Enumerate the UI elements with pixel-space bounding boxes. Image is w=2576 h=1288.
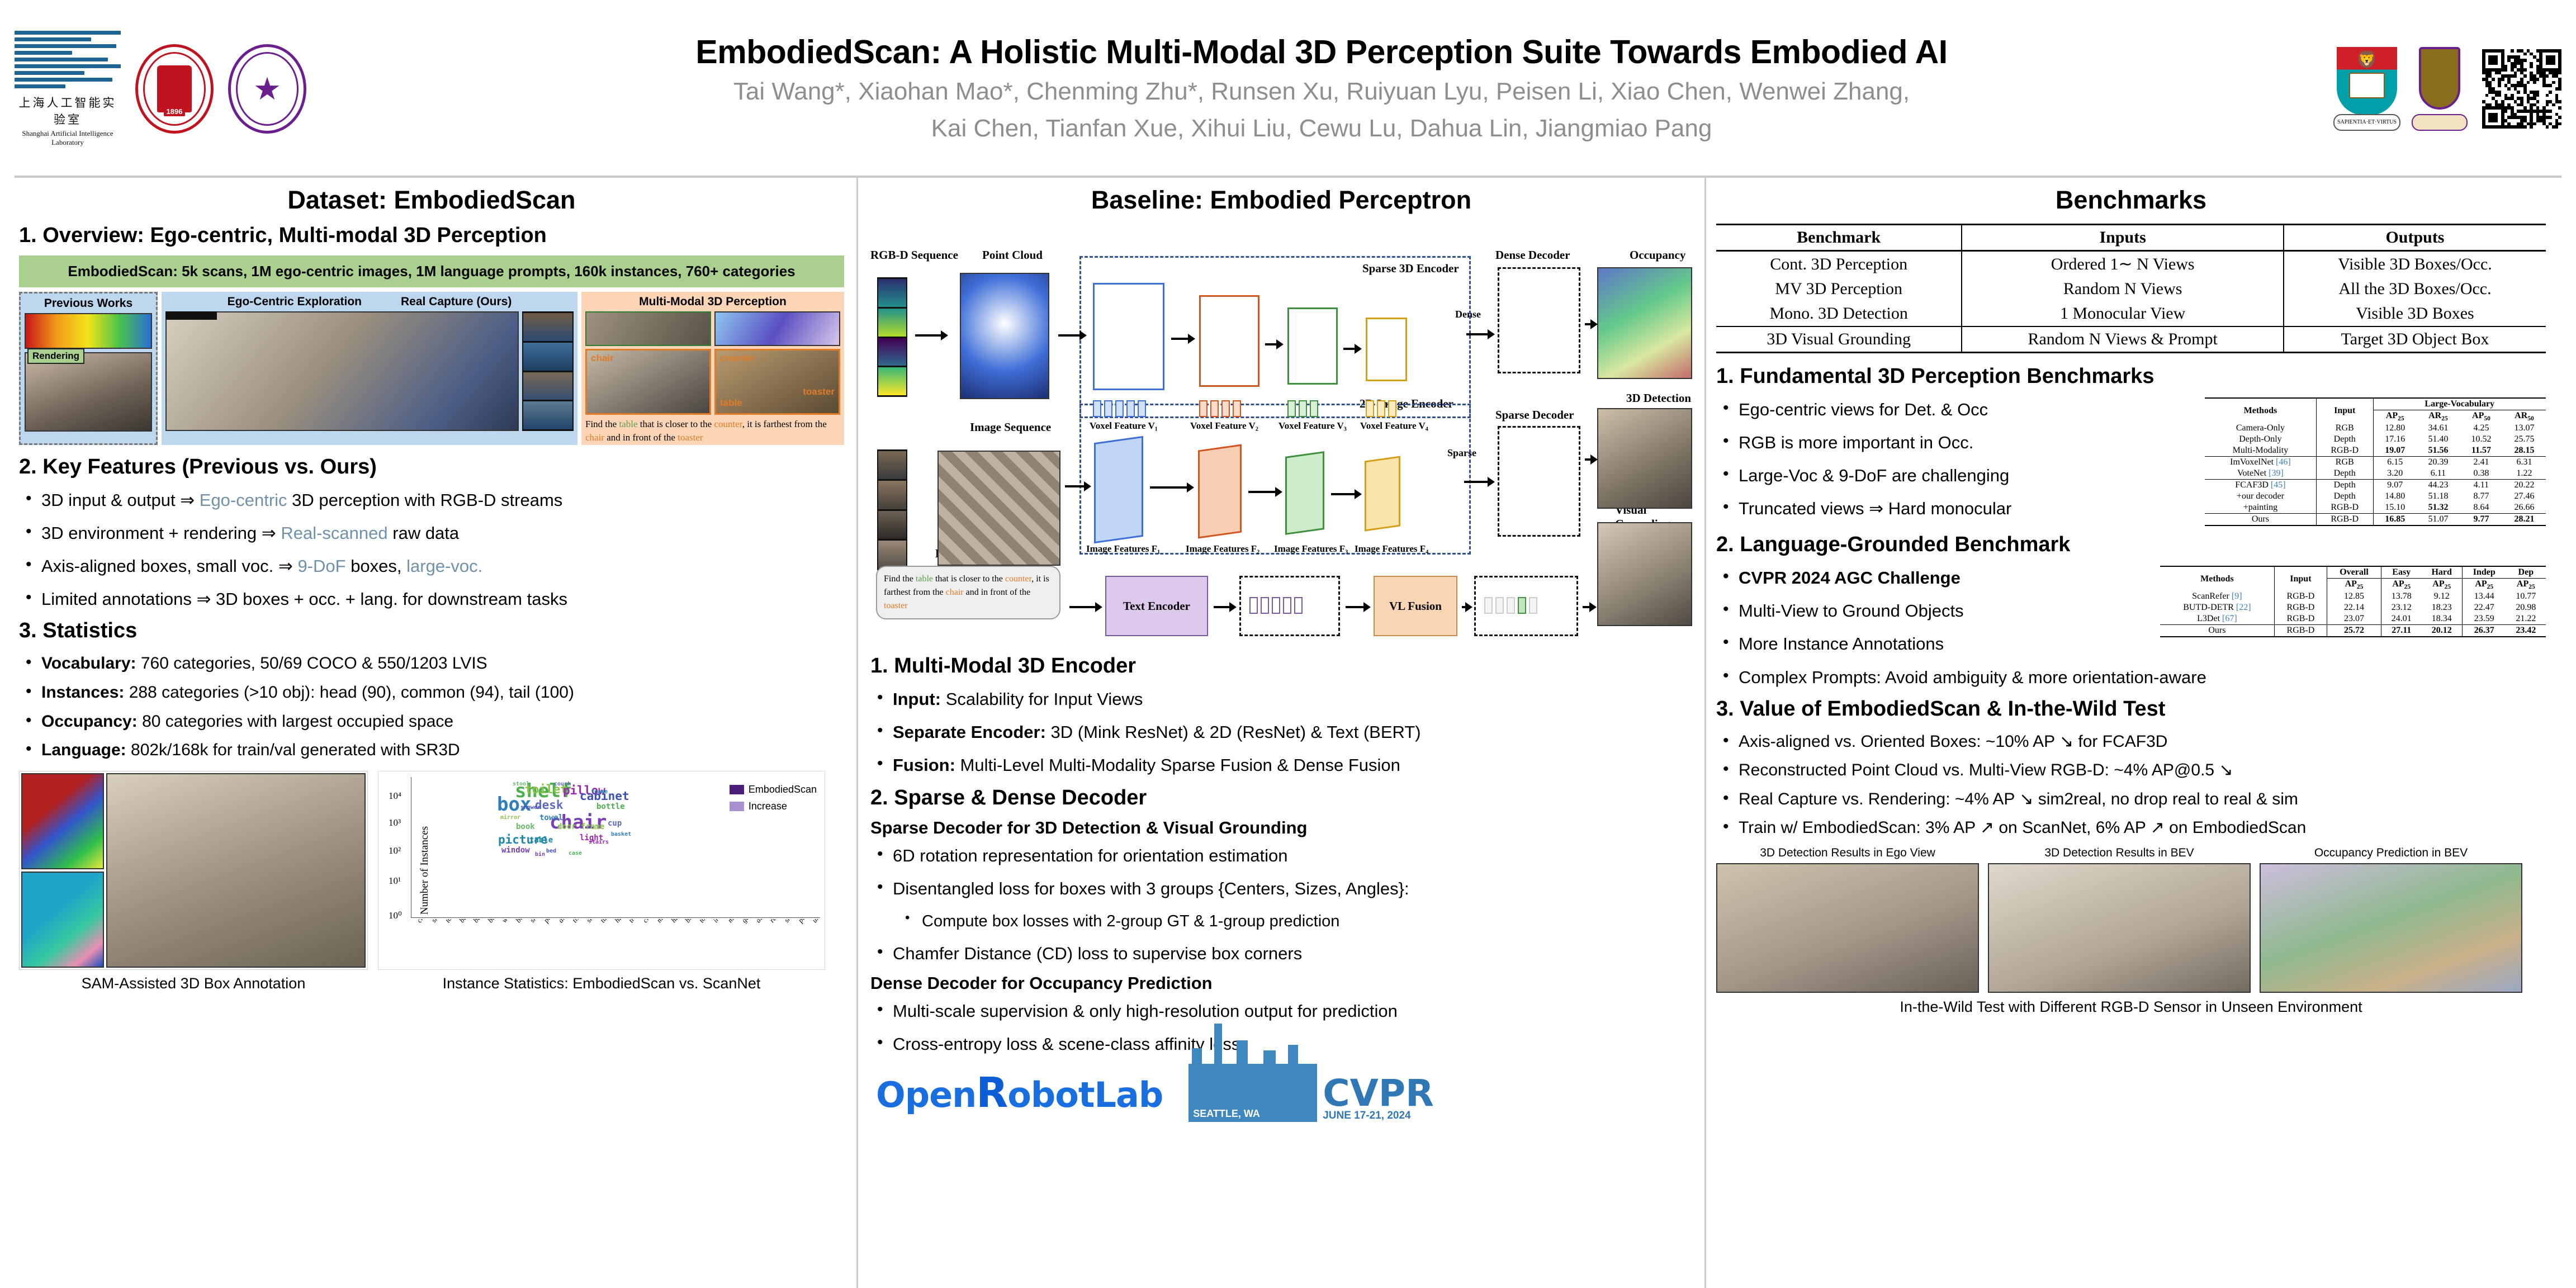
diagram-label-pointcloud: Point Cloud — [982, 248, 1043, 262]
bottom-logos: OpenRobotLab SEATTLE, WA CVPR JUNE 17-21… — [870, 1064, 1692, 1122]
table-cell: Cont. 3D Perception — [1716, 251, 1962, 277]
table-cell: 9.07 — [2373, 480, 2417, 491]
fig-caption-ego-det: 3D Detection Results in Ego View — [1716, 846, 1979, 860]
wordcloud-word: bed — [546, 849, 556, 854]
chart-ytick-1: 10¹ — [389, 875, 401, 887]
table-cell: 18.34 — [2422, 613, 2463, 625]
wordcloud-word: bin — [535, 852, 545, 858]
list-item: 3D input & output ⇒ Ego-centric 3D perce… — [19, 487, 844, 513]
table-header: Easy — [2381, 566, 2421, 579]
table-header: Large-Vocabulary — [2373, 398, 2546, 410]
mid-column-title: Baseline: Embodied Perceptron — [870, 186, 1692, 215]
table-header: AP25 — [2506, 579, 2546, 591]
table-row: 3D Visual GroundingRandom N Views & Prom… — [1716, 326, 2546, 353]
chart-xtick: tube — [598, 919, 613, 925]
arrow-vl-to-fused — [1462, 606, 1471, 608]
sail-name-en: Shanghai Artificial Intelligence Laborat… — [15, 129, 121, 147]
wordcloud-word: stool — [513, 782, 529, 787]
table-row: OursRGB-D16.8551.079.7728.21 — [2205, 514, 2546, 526]
table-cell: 1.22 — [2503, 468, 2546, 480]
right-section-2-heading: 2. Language-Grounded Benchmark — [1716, 533, 2546, 557]
list-item: More Instance Annotations — [1716, 631, 2158, 657]
diagram-label-sparsedec: Sparse Decoder — [1495, 408, 1574, 422]
left-section-3-heading: 3. Statistics — [19, 619, 844, 643]
title-block: EmbodiedScan: A Holistic Multi-Modal 3D … — [306, 34, 2337, 145]
list-item: 3D environment + rendering ⇒ Real-scanne… — [19, 520, 844, 546]
arrow-img-3-4 — [1331, 493, 1360, 495]
arrow-dense-to-occ — [1585, 323, 1596, 325]
dense-decoder-subheading: Dense Decoder for Occupancy Prediction — [870, 973, 1692, 993]
fig-mm-counter: counter toaster table — [714, 349, 840, 415]
arrow-img-to-enc — [1065, 485, 1090, 487]
wordcloud-word: book — [516, 823, 535, 831]
list-item: Vocabulary: 760 categories, 50/69 COCO &… — [19, 651, 844, 676]
table-cell: 51.40 — [2417, 434, 2460, 445]
table-cell: 22.14 — [2327, 602, 2381, 613]
fig-previous-works: Previous Works Rendering — [19, 292, 158, 445]
table-cell: RGB-D — [2316, 445, 2373, 457]
column-dataset: Dataset: EmbodiedScan 1. Overview: Ego-c… — [7, 178, 856, 1288]
table-cell: RGB-D — [2274, 591, 2327, 602]
table-cell: 12.80 — [2373, 423, 2417, 434]
list-item-nested: Compute box losses with 2-group GT & 1-g… — [870, 909, 1692, 934]
table-header: Benchmark — [1716, 225, 1962, 251]
image-feature-label-4: Image Features F₄ — [1355, 543, 1428, 555]
table-cell: 20.39 — [2417, 457, 2460, 468]
tag-counter: counter — [720, 353, 755, 364]
fig-ego-detection-image — [1716, 863, 1979, 993]
right-section-3-heading: 3. Value of EmbodiedScan & In-the-Wild T… — [1716, 697, 2546, 721]
table-header: Dep — [2506, 566, 2546, 579]
dense-decoder-list: Multi-scale supervision & only high-reso… — [870, 998, 1692, 1057]
wordcloud-word: cup — [608, 820, 622, 827]
table-cell: 26.66 — [2503, 502, 2546, 514]
chart-ytick-2: 10² — [389, 845, 401, 856]
table-cell: 10.52 — [2460, 434, 2503, 445]
table-cell: 20.22 — [2503, 480, 2546, 491]
rgbd-filmstrip-input — [877, 277, 907, 397]
page-title: EmbodiedScan: A Holistic Multi-Modal 3D … — [316, 34, 2327, 70]
openrobotlab-logo[interactable]: OpenRobotLab — [876, 1069, 1163, 1117]
table-cell: 21.22 — [2506, 613, 2546, 625]
legend-item: EmbodiedScan — [730, 784, 817, 795]
author-line-2: Kai Chen, Tianfan Xue, Xihui Liu, Cewu L… — [316, 113, 2327, 144]
table-header: Methods — [2160, 566, 2274, 591]
list-item: Chamfer Distance (CD) loss to supervise … — [870, 940, 1692, 967]
table-header: AP50 — [2460, 410, 2503, 423]
tag-toaster: toaster — [803, 386, 835, 397]
table-cell: 25.75 — [2503, 434, 2546, 445]
fundamental-bullets: Ego-centric views for Det. & Occ RGB is … — [1716, 396, 2175, 522]
fig-caption-sam: SAM-Assisted 3D Box Annotation — [19, 975, 368, 992]
table-header: AR50 — [2503, 410, 2546, 423]
table-cell: 3.20 — [2373, 468, 2417, 480]
table-header: Methods — [2205, 398, 2316, 423]
vg-caption: Find the table that is closer to the cou… — [585, 418, 840, 444]
table-cell: 25.72 — [2327, 625, 2381, 637]
table-cell: RGB-D — [2274, 625, 2327, 637]
text-tokens — [1249, 597, 1303, 614]
chart-xtick: step — [584, 919, 599, 925]
fig-multimodal: Multi-Modal 3D Perception chair counter … — [581, 292, 844, 445]
multi-view-images — [937, 451, 1060, 566]
table-cell: 51.56 — [2417, 445, 2460, 457]
right-bottom-figures: 3D Detection Results in Ego View 3D Dete… — [1716, 846, 2546, 993]
table-cell: 13.07 — [2503, 423, 2546, 434]
fig-rgbd-filmstrip — [522, 311, 574, 431]
dataset-stats-banner: EmbodiedScan: 5k scans, 1M ego-centric i… — [19, 255, 844, 287]
grounding-output-image — [1597, 522, 1692, 626]
arrow-rgbd-to-pc — [915, 334, 946, 337]
table-row: Multi-ModalityRGB-D19.0751.5611.5728.15 — [2205, 445, 2546, 457]
image-feature-stack-3 — [1285, 451, 1324, 535]
fig-instance-statistics: Number of Instances 10⁰ 10¹ 10² 10³ 10⁴ … — [378, 771, 825, 992]
table-cell: RGB — [2316, 457, 2373, 468]
table-cell: 13.44 — [2462, 591, 2506, 602]
column-benchmarks: Benchmarks BenchmarkInputsOutputsCont. 3… — [1706, 178, 2556, 1288]
wordcloud-word: window — [501, 846, 530, 854]
detection-output-image — [1597, 408, 1692, 509]
wordcloud-word: case — [569, 851, 582, 856]
wordcloud-word: mirror — [500, 815, 520, 821]
table-header: Inputs — [1962, 225, 2284, 251]
chart-xtick: pool — [796, 919, 811, 925]
table-cell: 9.12 — [2422, 591, 2463, 602]
table-cell: 8.64 — [2460, 502, 2503, 514]
arrow-sparse-to-det — [1585, 458, 1596, 461]
table-cell: 34.61 — [2417, 423, 2460, 434]
hku-motto: SAPIENTIA·ET·VIRTUS — [2333, 114, 2400, 131]
list-item: Separate Encoder: 3D (Mink ResNet) & 2D … — [870, 719, 1692, 745]
table-cell: 44.23 — [2417, 480, 2460, 491]
grounding-bullets: CVPR 2024 AGC Challenge Multi-View to Gr… — [1716, 565, 2158, 657]
chart-xtick: chair — [415, 919, 432, 925]
table-header: Input — [2274, 566, 2327, 591]
fig-mm-scene — [585, 311, 711, 346]
table-row: L3Det [67]RGB-D23.0724.0118.3423.5921.22 — [2160, 613, 2546, 625]
left-logo-group: 上海人工智能实验室 Shanghai Artificial Intelligen… — [15, 31, 306, 147]
table-header: AR25 — [2417, 410, 2460, 423]
table-cell: 51.32 — [2417, 502, 2460, 514]
fig-label-previous-works: Previous Works — [25, 297, 152, 310]
fig-ego-detection: 3D Detection Results in Ego View — [1716, 846, 1979, 993]
table-cell: RGB-D — [2274, 602, 2327, 613]
chart-xtick: tray — [627, 919, 641, 925]
table-cell: 17.16 — [2373, 434, 2417, 445]
sail-name-cn: 上海人工智能实验室 — [15, 94, 121, 127]
fig-caption-bev-det: 3D Detection Results in BEV — [1988, 846, 2251, 860]
pipeline-diagram: RGB-D Sequence Point Cloud Image Sequenc… — [870, 224, 1692, 648]
fig-depth-filmstrip — [165, 311, 217, 320]
value-bullets: Axis-aligned vs. Oriented Boxes: ~10% AP… — [1716, 729, 2546, 841]
voxel-feature-tokens-1 — [1093, 400, 1146, 417]
voxel-feature-label-4: Voxel Feature V₄ — [1360, 420, 1428, 432]
list-item: Ego-centric views for Det. & Occ — [1716, 396, 2175, 423]
table-cell: 20.98 — [2506, 602, 2546, 613]
table-row: Cont. 3D PerceptionOrdered 1∼ N ViewsVis… — [1716, 251, 2546, 277]
table-row: VoteNet [39]Depth3.206.110.381.22 — [2205, 468, 2546, 480]
arrow-to-sparse-dec — [1464, 481, 1493, 483]
fig-sam-seg-top — [21, 773, 104, 869]
table-cell: Depth — [2316, 480, 2373, 491]
fig-bev-occupancy: Occupancy Prediction in BEV — [2260, 846, 2522, 993]
table-row: FCAF3D [45]Depth9.0744.234.1120.22 — [2205, 480, 2546, 491]
table-header: Input — [2316, 398, 2373, 423]
diagram-label-densedec: Dense Decoder — [1495, 248, 1570, 262]
table-cell: 6.11 — [2417, 468, 2460, 480]
table-cell: Depth — [2316, 491, 2373, 502]
wordcloud-word: shower — [520, 805, 541, 811]
table-cell: Multi-Modality — [2205, 445, 2316, 457]
poster-root: 上海人工智能实验室 Shanghai Artificial Intelligen… — [0, 0, 2576, 1288]
table-cell: ImVoxelNet [46] — [2205, 457, 2316, 468]
fused-tokens — [1484, 597, 1537, 614]
fundamental-results-table: MethodsInputLarge-VocabularyAP25AR25AP50… — [2205, 397, 2546, 526]
fig-mm-seg — [714, 311, 840, 346]
table-cell: RGB-D — [2316, 514, 2373, 526]
table-cell: 23.12 — [2381, 602, 2421, 613]
table-header: AP25 — [2373, 410, 2417, 423]
table-row: ScanRefer [9]RGB-D12.8513.789.1213.4410.… — [2160, 591, 2546, 602]
wordcloud-word: frame — [591, 789, 608, 795]
list-item: Truncated views ⇒ Hard monocular — [1716, 495, 2175, 522]
table-cell: 28.15 — [2503, 445, 2546, 457]
qr-code-icon[interactable] — [2482, 49, 2561, 129]
table-cell: RGB-D — [2274, 613, 2327, 625]
language-prompt-box: Find the table that is closer to the cou… — [876, 566, 1060, 619]
table-cell: 20.12 — [2422, 625, 2463, 637]
chart-xtick: bag — [457, 919, 471, 925]
table-cell: +our decoder — [2205, 491, 2316, 502]
table-cell: +painting — [2205, 502, 2316, 514]
right-column-title: Benchmarks — [1716, 186, 2546, 215]
table-cell: RGB — [2316, 423, 2373, 434]
chart-xtick: hat — [613, 919, 626, 925]
overview-figure: Previous Works Rendering Ego-Centric Exp… — [19, 292, 844, 445]
wordcloud-word: stairs — [589, 840, 609, 845]
list-item: Disentangled loss for boxes with 3 group… — [870, 875, 1692, 902]
table-cell: Ordered 1∼ N Views — [1962, 251, 2284, 277]
dense-decoder-box — [1498, 267, 1580, 373]
table-cell: 19.07 — [2373, 445, 2417, 457]
table-row: +paintingRGB-D15.1051.328.6426.66 — [2205, 502, 2546, 514]
list-item: Language: 802k/168k for train/val genera… — [19, 737, 844, 763]
list-item: Limited annotations ⇒ 3D boxes + occ. + … — [19, 586, 844, 612]
table-cell: Visible 3D Boxes/Occ. — [2284, 251, 2546, 277]
table-cell: 22.47 — [2462, 602, 2506, 613]
arrow-tokens-to-vl — [1346, 606, 1369, 608]
list-item: Reconstructed Point Cloud vs. Multi-View… — [1716, 757, 2546, 783]
arrow-pc-to-enc — [1058, 334, 1085, 337]
image-feature-label-1: Image Features F₁ — [1086, 543, 1160, 555]
cvpr-city: SEATTLE, WA — [1193, 1108, 1260, 1120]
table-cell: 6.15 — [2373, 457, 2417, 468]
table-cell: BUTD-DETR [22] — [2160, 602, 2274, 613]
table-header: AP25 — [2327, 579, 2381, 591]
fig-caption-wild-test: In-the-Wild Test with Different RGB-D Se… — [1716, 998, 2546, 1016]
table-row: Camera-OnlyRGB12.8034.614.2513.07 — [2205, 423, 2546, 434]
table-cell: Visible 3D Boxes — [2284, 301, 2546, 326]
fig-sam-3d-scene — [106, 773, 366, 968]
fig-ego-centric: Ego-Centric Exploration Real Capture (Ou… — [162, 292, 577, 445]
table-cell: 11.57 — [2460, 445, 2503, 457]
table-row: +our decoderDepth14.8051.188.7727.46 — [2205, 491, 2546, 502]
image-feature-stack-2 — [1198, 444, 1242, 539]
chart-legend: EmbodiedScan Increase — [730, 784, 817, 817]
cvpr-logo: SEATTLE, WA CVPR JUNE 17-21, 2024 — [1188, 1064, 1434, 1122]
fig-mm-chair: chair — [585, 349, 711, 415]
fig-scene-topdown — [165, 311, 519, 431]
arrow-img-1-2 — [1150, 486, 1192, 489]
fig-prev-heatmap — [25, 313, 152, 349]
left-section-2-heading: 2. Key Features (Previous vs. Ours) — [19, 455, 844, 479]
voxel-cube-3 — [1287, 307, 1338, 385]
fig-label-multimodal: Multi-Modal 3D Perception — [585, 295, 840, 309]
table-cell: Camera-Only — [2205, 423, 2316, 434]
table-row: Mono. 3D Detection1 Monocular ViewVisibl… — [1716, 301, 2546, 326]
voxel-cube-2 — [1199, 295, 1259, 387]
table-cell: 12.85 — [2327, 591, 2381, 602]
fig-caption-bev-occ: Occupancy Prediction in BEV — [2260, 846, 2522, 860]
table-cell: Depth-Only — [2205, 434, 2316, 445]
table-row: ImVoxelNet [46]RGB6.1520.392.416.31 — [2205, 457, 2546, 468]
list-item: Fusion: Multi-Level Multi-Modality Spars… — [870, 752, 1692, 778]
fig-label-real-capture: Real Capture (Ours) — [401, 295, 512, 309]
sparse-decoder-subheading: Sparse Decoder for 3D Detection & Visual… — [870, 818, 1692, 838]
table-cell: 16.85 — [2373, 514, 2417, 526]
right-section-1-heading: 1. Fundamental 3D Perception Benchmarks — [1716, 364, 2546, 389]
arrow-to-dense-dec — [1466, 333, 1493, 335]
arrow-img-2-3 — [1248, 491, 1281, 493]
diagram-label-rgbd: RGB-D Sequence — [870, 248, 958, 262]
voxel-cube-1 — [1093, 283, 1164, 390]
list-item: RGB is more important in Occ. — [1716, 429, 2175, 456]
fig-bev-detection-image — [1988, 863, 2251, 993]
table-cell: 9.77 — [2460, 514, 2503, 526]
statistics-list: Vocabulary: 760 categories, 50/69 COCO &… — [19, 651, 844, 763]
chart-ytick-4: 10⁴ — [389, 790, 401, 802]
wordcloud-word: bottle — [596, 803, 625, 811]
column-baseline: Baseline: Embodied Perceptron RGB-D Sequ… — [856, 178, 1706, 1288]
list-item: Occupancy: 80 categories with largest oc… — [19, 709, 844, 735]
chart-ytick-0: 10⁰ — [389, 910, 402, 921]
table-cell: 24.01 — [2381, 613, 2421, 625]
chart-xtick: sheet — [782, 919, 798, 925]
author-line-1: Tai Wang*, Xiaohan Mao*, Chenming Zhu*, … — [316, 76, 2327, 107]
diagram-label-3ddet: 3D Detection — [1626, 391, 1691, 405]
table-cell: RGB-D — [2316, 502, 2373, 514]
table-cell: 3D Visual Grounding — [1716, 326, 1962, 353]
table-cell: 26.37 — [2462, 625, 2506, 637]
image-feature-stack-4 — [1365, 456, 1400, 532]
sail-bars-icon — [15, 31, 121, 88]
list-item: Axis-aligned vs. Oriented Boxes: ~10% AP… — [1716, 729, 2546, 755]
list-item: CVPR 2024 AGC Challenge — [1716, 565, 2158, 591]
table-cell: 4.11 — [2460, 480, 2503, 491]
sparse-decoder-list: 6D rotation representation for orientati… — [870, 842, 1692, 966]
left-bottom-figures: SAM-Assisted 3D Box Annotation Number of… — [19, 771, 844, 992]
wordcloud-word: table — [529, 836, 553, 844]
image-filmstrip-input — [877, 449, 907, 570]
list-item: Train w/ EmbodiedScan: 3% AP ↗ on ScanNe… — [1716, 815, 2546, 841]
table-cell: ScanRefer [9] — [2160, 591, 2274, 602]
table-row: MV 3D PerceptionRandom N ViewsAll the 3D… — [1716, 277, 2546, 301]
arrow-enc-1-2 — [1171, 338, 1194, 340]
table-cell: MV 3D Perception — [1716, 277, 1962, 301]
table-header: Overall — [2327, 566, 2381, 579]
fig-label-ego-centric: Ego-Centric Exploration — [228, 295, 362, 309]
voxel-feature-tokens-2 — [1199, 400, 1241, 417]
chart-xtick: urn — [810, 919, 820, 925]
sjtu-seal-icon: 1896 — [135, 44, 214, 134]
list-item: Cross-entropy loss & scene-class affinit… — [870, 1031, 1692, 1057]
list-item: Axis-aligned boxes, small voc. ⇒ 9-DoF b… — [19, 553, 844, 579]
table-cell: 23.07 — [2327, 613, 2381, 625]
left-column-title: Dataset: EmbodiedScan — [19, 186, 844, 215]
seattle-skyline-icon: SEATTLE, WA — [1188, 1064, 1317, 1122]
arrow-text-to-tokens — [1214, 606, 1235, 608]
arrow-enc-2-3 — [1265, 343, 1282, 345]
table-cell: 23.59 — [2462, 613, 2506, 625]
arrow-prompt-to-text — [1069, 606, 1101, 608]
table-cell: Random N Views & Prompt — [1962, 326, 2284, 353]
list-item: Input: Scalability for Input Views — [870, 686, 1692, 712]
wordcloud-word: door frame — [557, 823, 604, 831]
image-feature-label-3: Image Features F₃ — [1274, 543, 1348, 555]
fig-bev-detection: 3D Detection Results in BEV — [1988, 846, 2251, 993]
wordcloud-word: basket — [611, 832, 631, 837]
point-cloud-image — [960, 273, 1049, 399]
table-cell: FCAF3D [45] — [2205, 480, 2316, 491]
grounding-results-table-wrap: MethodsInputOverallEasyHardIndepDepAP25A… — [2160, 566, 2546, 637]
fundamental-results-table-wrap: MethodsInputLarge-VocabularyAP25AR25AP50… — [2205, 397, 2546, 526]
voxel-feature-label-1: Voxel Feature V₁ — [1090, 420, 1158, 432]
table-cell: 51.07 — [2417, 514, 2460, 526]
encoder-list: Input: Scalability for Input Views Separ… — [870, 686, 1692, 778]
fig-caption-stats: Instance Statistics: EmbodiedScan vs. Sc… — [378, 975, 825, 992]
wordcloud-word: couch — [554, 782, 571, 787]
text-encoder-block: Text Encoder — [1105, 576, 1208, 636]
fig-sam-seg-bottom — [21, 872, 104, 968]
chart-wordcloud: boxshelfchairpicturetoiletdeskpillowcabi… — [496, 780, 664, 865]
chart-xtick: crate — [641, 919, 657, 925]
table-cell: 4.25 — [2460, 423, 2503, 434]
table-header: AP25 — [2462, 579, 2506, 591]
list-item: Instances: 288 categories (>10 obj): hea… — [19, 680, 844, 705]
voxel-feature-tokens-4 — [1366, 400, 1396, 417]
table-cell: Depth — [2316, 434, 2373, 445]
table-header: Outputs — [2284, 225, 2546, 251]
table-cell: All the 3D Boxes/Occ. — [2284, 277, 2546, 301]
poster-header: 上海人工智能实验室 Shanghai Artificial Intelligen… — [0, 0, 2576, 178]
chart-xtick: towel — [443, 919, 460, 925]
table-cell: Mono. 3D Detection — [1716, 301, 1962, 326]
table-header: AP25 — [2422, 579, 2463, 591]
table-header: Hard — [2422, 566, 2463, 579]
table-row: OursRGB-D25.7227.1120.1226.3723.42 — [2160, 625, 2546, 637]
table-cell: Ours — [2160, 625, 2274, 637]
table-cell: 27.11 — [2381, 625, 2421, 637]
rendering-badge: Rendering — [27, 348, 84, 364]
table-cell: Random N Views — [1962, 277, 2284, 301]
benchmarks-overview-table: BenchmarkInputsOutputsCont. 3D Perceptio… — [1716, 224, 2546, 353]
diagram-label-imageseq: Image Sequence — [970, 420, 1051, 434]
table-cell: 18.23 — [2422, 602, 2463, 613]
tag-table: table — [720, 397, 742, 409]
fig-bev-occupancy-image — [2260, 863, 2522, 993]
grounding-bullets-cont: Complex Prompts: Avoid ambiguity & more … — [1716, 664, 2546, 690]
list-item: Large-Voc & 9-DoF are challenging — [1716, 462, 2175, 489]
